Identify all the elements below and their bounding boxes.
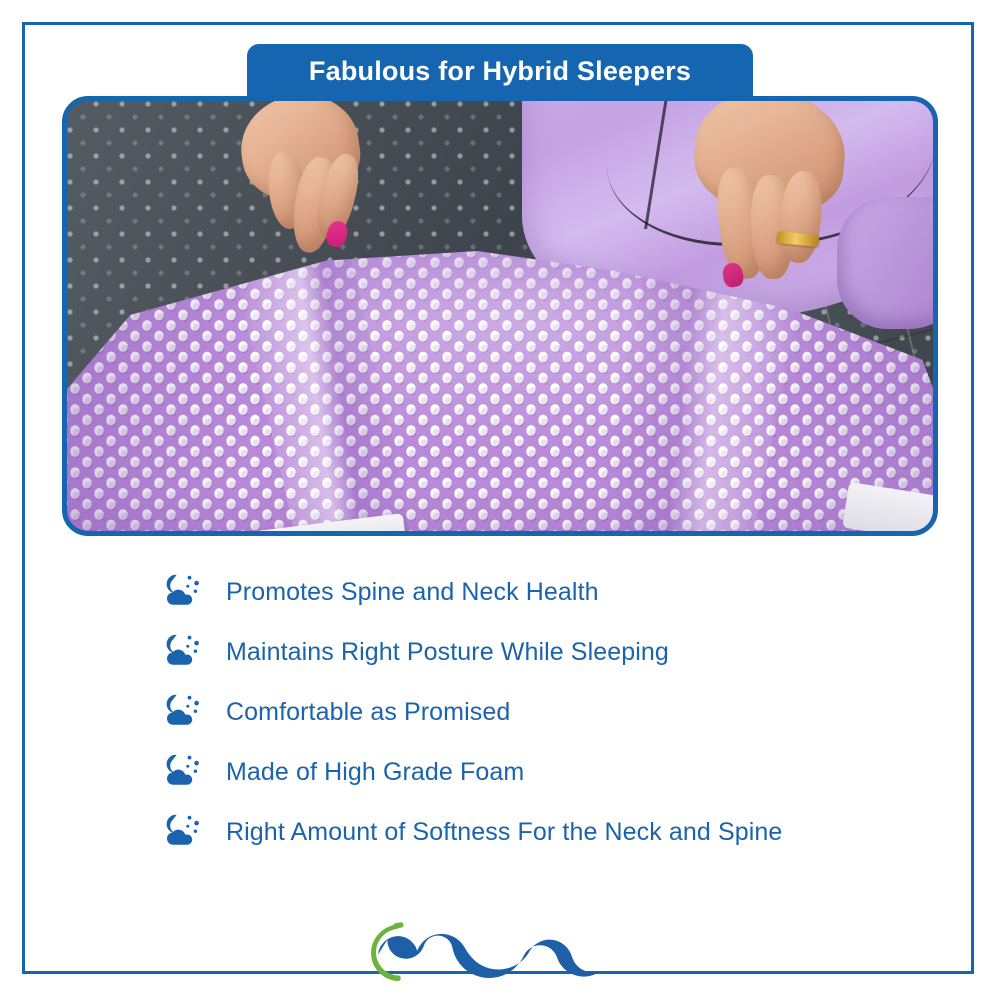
feature-item: Comfortable as Promised <box>165 682 925 742</box>
hero-image <box>62 96 938 536</box>
night-cloud-icon <box>165 632 209 672</box>
feature-item: Maintains Right Posture While Sleeping <box>165 622 925 682</box>
sleeve-trim-edge-side <box>524 101 669 229</box>
page-title: Fabulous for Hybrid Sleepers <box>309 56 691 87</box>
feature-item: Promotes Spine and Neck Health <box>165 562 925 622</box>
poster-canvas: Fabulous for Hybrid Sleepers Promotes Sp… <box>0 0 1000 1000</box>
feature-label: Promotes Spine and Neck Health <box>209 578 599 607</box>
night-cloud-icon <box>165 572 209 612</box>
night-cloud-icon <box>165 752 209 792</box>
right-hand-icon <box>677 101 862 301</box>
feature-label: Right Amount of Softness For the Neck an… <box>209 818 782 847</box>
feature-label: Made of High Grade Foam <box>209 758 524 787</box>
feature-label: Comfortable as Promised <box>209 698 510 727</box>
feature-list: Promotes Spine and Neck Health Maintains… <box>165 562 925 862</box>
brand-wave-logo <box>352 918 642 990</box>
night-cloud-icon <box>165 812 209 852</box>
hero-image-inner <box>67 101 933 531</box>
feature-item: Right Amount of Softness For the Neck an… <box>165 802 925 862</box>
night-cloud-icon <box>165 692 209 732</box>
left-hand-icon <box>235 101 400 275</box>
feature-item: Made of High Grade Foam <box>165 742 925 802</box>
feature-label: Maintains Right Posture While Sleeping <box>209 638 669 667</box>
title-banner: Fabulous for Hybrid Sleepers <box>247 44 753 98</box>
